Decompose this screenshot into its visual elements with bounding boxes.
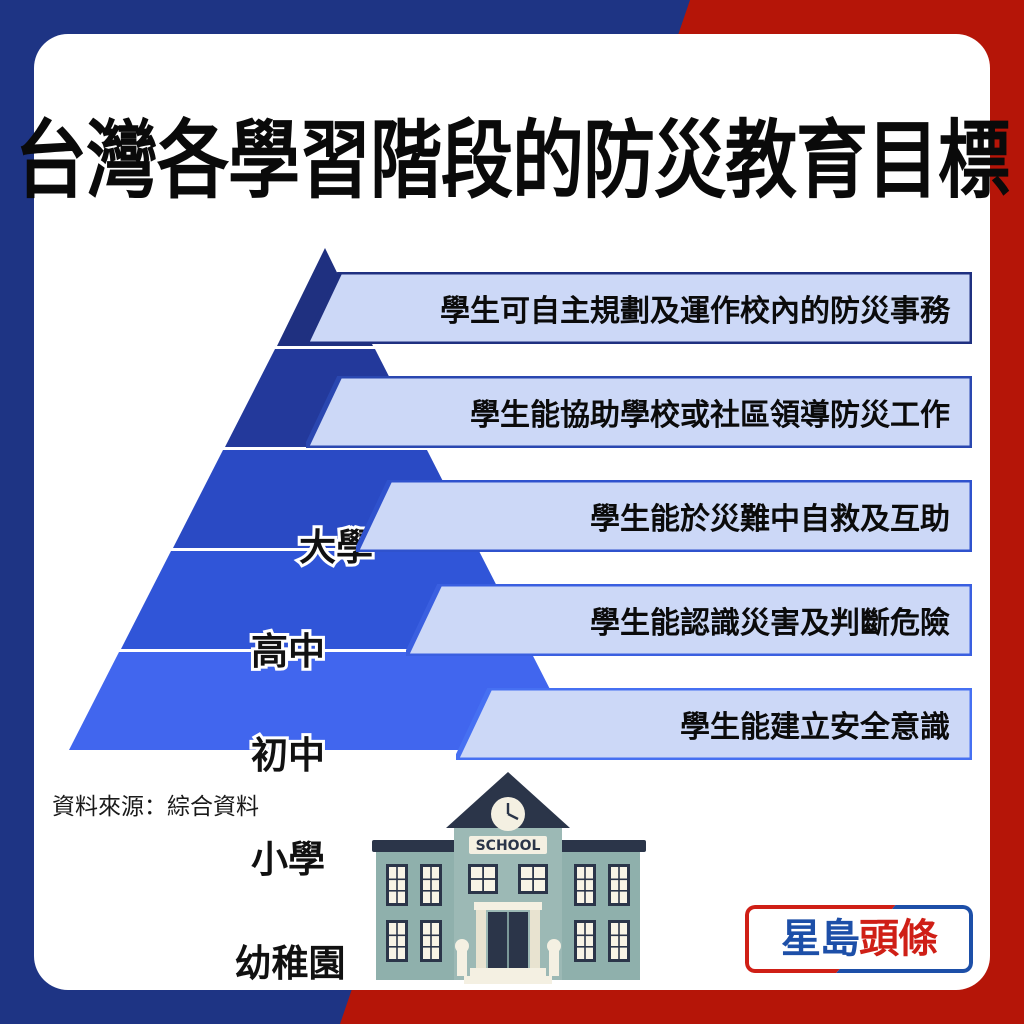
school-svg: SCHOOL — [358, 770, 658, 998]
logo-text: 星島頭條 — [745, 919, 973, 959]
level-label-3: 初中 — [228, 725, 348, 779]
level-description-1: 學生可自主規劃及運作校內的防災事務 — [440, 286, 950, 330]
level-label-4: 小學 — [228, 829, 348, 883]
level-description-3: 學生能於災難中自救及互助 — [590, 494, 950, 538]
page-title: 台灣各學習階段的防災教育目標 — [0, 118, 1024, 203]
source-note: 資料來源：綜合資料 — [52, 787, 259, 821]
level-label-5: 幼稚園 — [206, 933, 374, 987]
level-description-2: 學生能協助學校或社區領導防災工作 — [470, 390, 950, 434]
brand-logo[interactable]: 星島頭條 — [745, 905, 973, 973]
level-row-2: 學生能協助學校或社區領導防災工作 — [306, 376, 972, 448]
logo-text-part-one: 星島 — [781, 916, 859, 962]
level-row-1: 學生可自主規劃及運作校內的防災事務 — [306, 272, 972, 344]
level-rows: 學生可自主規劃及運作校內的防災事務 大學 學生能協助學校或社區領導防災工作 高中… — [0, 248, 1024, 758]
level-row-5: 學生能建立安全意識 — [456, 688, 972, 760]
school-sign-text: SCHOOL — [476, 838, 541, 854]
level-description-4: 學生能認識災害及判斷危險 — [590, 598, 950, 642]
school-building-illustration: SCHOOL — [358, 770, 658, 998]
level-label-2: 高中 — [228, 621, 348, 675]
level-row-4: 學生能認識災害及判斷危險 — [406, 584, 972, 656]
logo-text-part-two: 頭條 — [859, 916, 937, 962]
level-description-5: 學生能建立安全意識 — [680, 702, 950, 746]
level-row-3: 學生能於災難中自救及互助 — [356, 480, 972, 552]
infographic-poster: 台灣各學習階段的防災教育目標 學生可自主規劃及運作校內的防災事務 大學 — [0, 0, 1024, 1024]
